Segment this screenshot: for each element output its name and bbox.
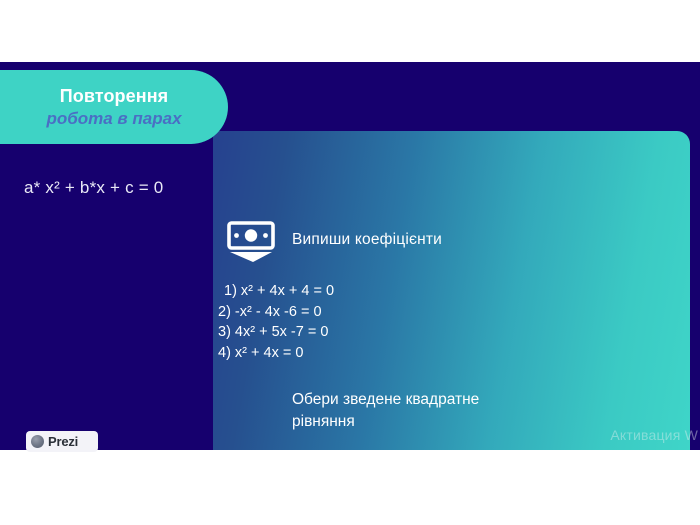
page-subtitle: робота в парах <box>46 108 181 130</box>
slide-canvas: Випиши коефіцієнти 1) x² + 4x + 4 = 0 2)… <box>0 62 700 450</box>
task-panel: Випиши коефіцієнти 1) x² + 4x + 4 = 0 2)… <box>213 131 690 450</box>
title-badge: Повторення робота в парах <box>0 70 228 144</box>
page-title: Повторення <box>60 85 169 107</box>
title-badge-content: Повторення робота в парах <box>0 70 228 144</box>
list-item: 3) 4x² + 5x -7 = 0 <box>218 322 334 343</box>
list-item: 1) x² + 4x + 4 = 0 <box>218 281 334 302</box>
prezi-logo-label: Prezi <box>48 434 78 449</box>
equation-list: 1) x² + 4x + 4 = 0 2) -x² - 4x -6 = 0 3)… <box>218 281 334 363</box>
quadratic-formula: a* x² + b*x + c = 0 <box>24 178 163 198</box>
prezi-logo[interactable]: Prezi <box>26 431 98 452</box>
banknote-icon <box>227 221 275 263</box>
list-item: 2) -x² - 4x -6 = 0 <box>218 302 334 323</box>
secondary-prompt: Обери зведене квадратне рівняння <box>292 389 542 433</box>
slide-root: Випиши коефіцієнти 1) x² + 4x + 4 = 0 2)… <box>0 0 700 525</box>
list-item: 4) x² + 4x = 0 <box>218 343 334 364</box>
prezi-orb-icon <box>31 435 44 448</box>
task-heading: Випиши коефіцієнти <box>292 231 442 249</box>
activation-watermark: Активация W <box>610 427 698 443</box>
